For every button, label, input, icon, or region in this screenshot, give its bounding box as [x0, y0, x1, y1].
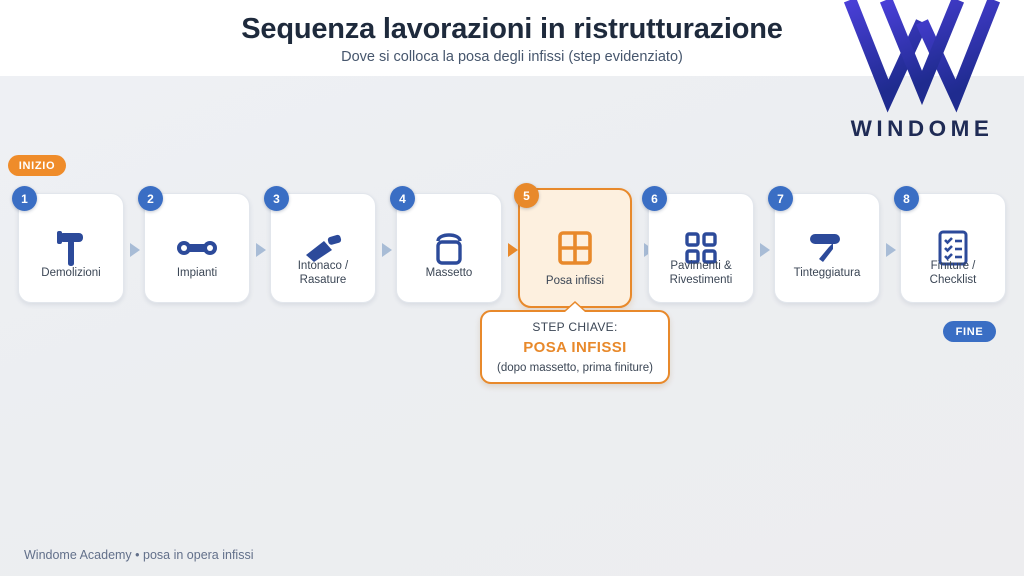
- step-number-4: 4: [390, 186, 415, 211]
- demolition-hammer-icon: [19, 226, 123, 270]
- step-number-7: 7: [768, 186, 793, 211]
- end-badge: FINE: [943, 321, 996, 342]
- brand-logo: WINDOME: [828, 0, 1016, 152]
- step-label-6: Pavimenti & Rivestimenti: [652, 259, 750, 287]
- step-card-4[interactable]: 4 Massetto: [396, 193, 502, 303]
- flow-arrow-6: [760, 243, 770, 257]
- callout-kicker: STEP CHIAVE:: [482, 320, 668, 334]
- flow-arrow-3: [382, 243, 392, 257]
- flow-arrow-1: [130, 243, 140, 257]
- window-icon: [520, 226, 630, 270]
- step-card-8[interactable]: 8 Finiture / Checklist: [900, 193, 1006, 303]
- step-label-4: Massetto: [400, 266, 498, 280]
- step-number-6: 6: [642, 186, 667, 211]
- callout-pointer-icon: [565, 303, 585, 312]
- step-label-7: Tinteggiatura: [778, 266, 876, 280]
- step-number-5: 5: [514, 183, 539, 208]
- callout-note: (dopo massetto, prima finiture): [482, 362, 668, 374]
- step-card-3[interactable]: 3 Intonaco / Rasature: [270, 193, 376, 303]
- step-number-8: 8: [894, 186, 919, 211]
- step-label-5: Posa infissi: [523, 274, 627, 288]
- start-badge: INIZIO: [8, 155, 66, 176]
- callout-title: POSA INFISSI: [482, 339, 668, 356]
- key-step-callout: STEP CHIAVE: POSA INFISSI (dopo massetto…: [480, 310, 670, 384]
- step-card-5[interactable]: 5 Posa infissi: [518, 188, 632, 308]
- footer-text: Windome Academy • posa in opera infissi: [24, 548, 254, 562]
- flow-arrow-7: [886, 243, 896, 257]
- step-number-1: 1: [12, 186, 37, 211]
- step-label-8: Finiture / Checklist: [904, 259, 1002, 287]
- step-label-2: Impianti: [148, 266, 246, 280]
- pipe-fitting-icon: [145, 226, 249, 270]
- bucket-icon: [397, 226, 501, 270]
- step-card-6[interactable]: 6 Pavimenti & Rivestimenti: [648, 193, 754, 303]
- step-label-3: Intonaco / Rasature: [274, 259, 372, 287]
- paint-roller-icon: [775, 226, 879, 270]
- flow-arrow-4: [508, 243, 518, 257]
- step-label-1: Demolizioni: [22, 266, 120, 280]
- step-card-7[interactable]: 7 Tinteggiatura: [774, 193, 880, 303]
- step-card-1[interactable]: 1 Demolizioni: [18, 193, 124, 303]
- step-card-2[interactable]: 2 Impianti: [144, 193, 250, 303]
- windome-w-logo-icon: [842, 0, 1002, 114]
- brand-name: WINDOME: [828, 116, 1016, 142]
- step-number-3: 3: [264, 186, 289, 211]
- flow-arrow-2: [256, 243, 266, 257]
- step-number-2: 2: [138, 186, 163, 211]
- process-flow: 1 Demolizioni 2 Impianti 3: [0, 188, 1024, 313]
